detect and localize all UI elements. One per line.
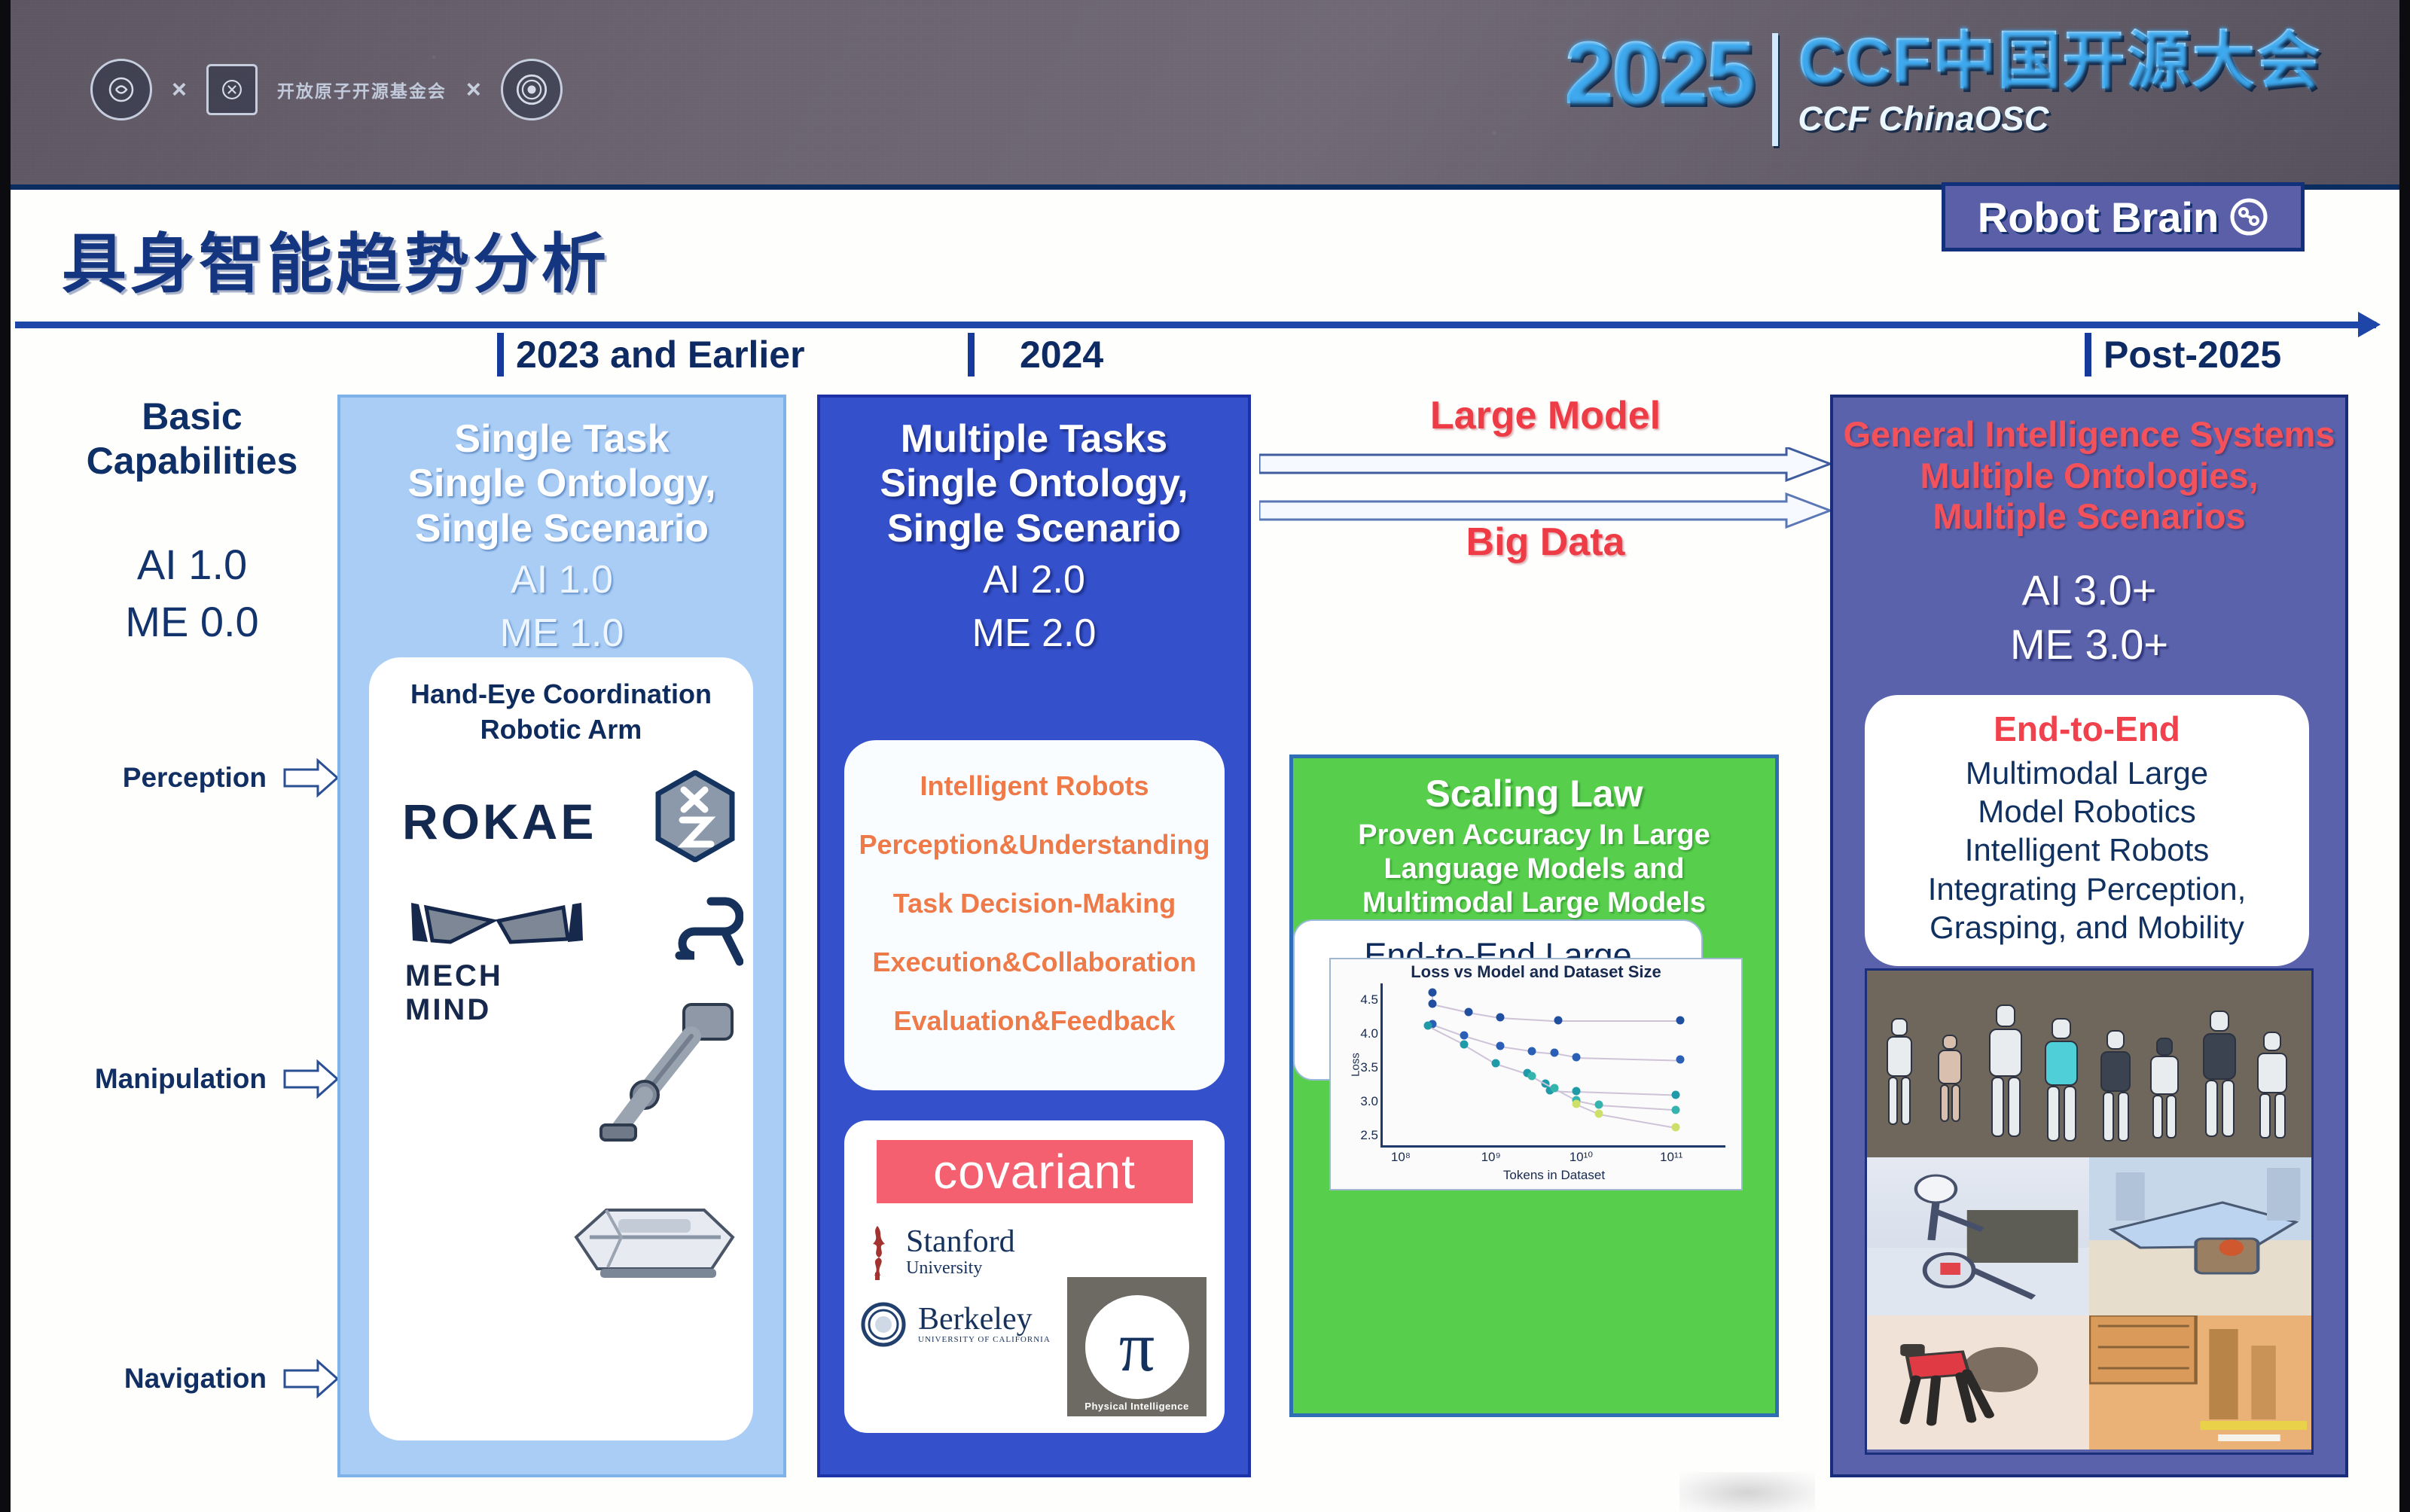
- chart-data-point: [1460, 1040, 1468, 1048]
- chart-data-point: [1496, 1042, 1504, 1050]
- berkeley-primary: Berkeley: [918, 1303, 1051, 1335]
- title-divider: [1772, 33, 1778, 146]
- capability-label-manipulation: Manipulation: [95, 1063, 267, 1095]
- right-edge-shadow: [2399, 0, 2410, 1512]
- transition-arrows: Large Model Big Data: [1259, 393, 1832, 566]
- panel3-me-version: ME 3.0+: [1833, 617, 2345, 672]
- left-edge-shadow: [0, 0, 11, 1512]
- brain-gear-icon: [2229, 197, 2268, 236]
- r-curve-logo-icon: [664, 897, 743, 980]
- scaling-law-subtitle: Proven Accuracy In Large Language Models…: [1293, 818, 1775, 919]
- conference-title-block: 2025 CCF中国开源大会 CCF ChinaOSC: [1564, 29, 2321, 146]
- stage-panel-post2025: General Intelligence Systems Multiple On…: [1830, 395, 2348, 1477]
- chart-data-point: [1595, 1101, 1603, 1109]
- rokae-logo: ROKAE: [402, 793, 596, 850]
- arrow-label-large-model: Large Model: [1259, 393, 1832, 438]
- panel1-head-line3: Single Scenario: [340, 507, 783, 551]
- partner-logo-row: × 开放原子开源基金会 ×: [90, 59, 563, 120]
- stanford-name: Stanford University: [906, 1226, 1015, 1279]
- scaling-law-sub-line3: Multimodal Large Models: [1293, 886, 1775, 920]
- capability-row-perception: Perception: [45, 758, 339, 798]
- physical-intelligence-caption: Physical Intelligence: [1084, 1401, 1188, 1412]
- chart-trend-line: [1599, 1105, 1676, 1111]
- chart-data-point: [1460, 1031, 1468, 1039]
- panel3-card-line3: Intelligent Robots: [1865, 831, 2309, 869]
- panel2-ai-version: AI 2.0: [820, 556, 1248, 605]
- chart-y-tick: 2.5: [1360, 1128, 1378, 1143]
- panel3-versions: AI 3.0+ ME 3.0+: [1833, 563, 2345, 673]
- chart-x-tick: 10¹¹: [1660, 1150, 1682, 1165]
- chart-trend-line: [1576, 1091, 1676, 1096]
- warehouse-robot-photo: [2089, 1157, 2311, 1315]
- panel3-content-card: End-to-End Multimodal Large Model Roboti…: [1865, 695, 2309, 966]
- chart-data-point: [1573, 1053, 1581, 1061]
- capabilities-ai-version: AI 1.0: [45, 536, 339, 593]
- berkeley-name: Berkeley UNIVERSITY OF CALIFORNIA: [918, 1303, 1051, 1345]
- chart-x-tick: 10¹⁰: [1570, 1150, 1593, 1165]
- panel3-ai-version: AI 3.0+: [1833, 563, 2345, 618]
- panel3-card-title: End-to-End: [1865, 695, 2309, 749]
- basic-capabilities-column: Basic Capabilities AI 1.0 ME 0.0 Percept…: [45, 395, 339, 1464]
- hexagon-robot-logo-icon: [654, 770, 737, 862]
- stanford-logo-row: Stanford University: [861, 1223, 1225, 1282]
- feature-item: Perception&Understanding: [844, 829, 1225, 861]
- conference-banner: × 开放原子开源基金会 × 2025 CCF中国开源大会 CCF ChinaOS…: [0, 0, 2410, 190]
- era-text-2: 2024: [1020, 333, 1103, 376]
- arrow-label-big-data: Big Data: [1259, 520, 1832, 565]
- conference-year: 2025: [1564, 29, 1753, 117]
- partner-logo-2-icon: [206, 64, 258, 115]
- era-tick-2: [968, 333, 975, 376]
- mech-mind-wordmark: MECH MIND: [405, 959, 593, 1027]
- chart-data-point: [1496, 1013, 1504, 1021]
- panel3-card-line2: Model Robotics: [1865, 792, 2309, 831]
- chart-data-point: [1573, 1087, 1581, 1096]
- chart-y-tick: 4.0: [1360, 1026, 1378, 1041]
- panel1-header: Single Task Single Ontology, Single Scen…: [340, 398, 783, 659]
- chart-trend-line: [1463, 1035, 1499, 1047]
- stanford-secondary: University: [906, 1257, 1015, 1279]
- panel2-me-version: ME 2.0: [820, 609, 1248, 659]
- panel2-feature-card: Intelligent Robots Perception&Understand…: [844, 740, 1225, 1090]
- stage-panel-2023: Single Task Single Ontology, Single Scen…: [337, 395, 786, 1477]
- panel2-head-line2: Single Ontology,: [820, 462, 1248, 506]
- chart-data-point: [1672, 1123, 1680, 1131]
- feature-item: Execution&Collaboration: [844, 947, 1225, 978]
- panel2-header: Multiple Tasks Single Ontology, Single S…: [820, 398, 1248, 659]
- panel1-ai-version: AI 1.0: [340, 556, 783, 605]
- feature-item: Task Decision-Making: [844, 888, 1225, 919]
- stanford-primary: Stanford: [906, 1226, 1015, 1257]
- robot-application-photos-row2: [1867, 1315, 2311, 1450]
- chart-trend-line: [1432, 1004, 1469, 1014]
- panel3-card-line4: Integrating Perception,: [1865, 870, 2309, 908]
- panel2-head-line3: Single Scenario: [820, 507, 1248, 551]
- conference-title-english: CCF ChinaOSC: [1798, 99, 2321, 139]
- era-label-2024: 2024: [968, 333, 1103, 376]
- feature-item: Intelligent Robots: [844, 770, 1225, 802]
- scaling-law-sub-line2: Language Models and: [1293, 852, 1775, 886]
- capability-label-navigation: Navigation: [124, 1363, 267, 1395]
- chart-x-label: Tokens in Dataset: [1503, 1168, 1605, 1183]
- panel1-content-card: Hand-Eye Coordination Robotic Arm ROKAE: [369, 657, 753, 1440]
- partner-logo-3-icon: [501, 59, 563, 120]
- page-title: 具身智能趋势分析: [62, 211, 610, 305]
- capabilities-heading-line2: Capabilities: [45, 439, 339, 483]
- panel3-card-body: Multimodal Large Model Robotics Intellig…: [1865, 754, 2309, 947]
- loss-scaling-chart: Loss vs Model and Dataset Size Loss Toke…: [1329, 958, 1743, 1190]
- chart-data-point: [1464, 1007, 1472, 1016]
- robotic-arm-photo: [595, 1000, 746, 1143]
- chart-data-point: [1554, 1017, 1563, 1025]
- chart-data-point: [1428, 988, 1436, 996]
- panel1-head-line2: Single Ontology,: [340, 462, 783, 506]
- berkeley-secondary: UNIVERSITY OF CALIFORNIA: [918, 1335, 1051, 1345]
- panel2-logo-card: covariant Stanford University: [844, 1120, 1225, 1433]
- humanoid-robots-icon: [1878, 989, 2300, 1147]
- robot-brain-label: Robot Brain: [1978, 193, 2219, 242]
- scaling-law-sub-line1: Proven Accuracy In Large: [1293, 818, 1775, 852]
- arrow-right-icon: [283, 1358, 339, 1399]
- scaling-law-title: Scaling Law: [1293, 758, 1775, 815]
- panel3-header: General Intelligence Systems Multiple On…: [1833, 398, 2345, 538]
- covariant-logo: covariant: [877, 1140, 1193, 1203]
- capability-label-perception: Perception: [123, 762, 267, 794]
- panel1-card-title-line2: Robotic Arm: [369, 712, 753, 748]
- stanford-tree-icon: [861, 1223, 894, 1282]
- arrow-right-icon: [283, 1059, 339, 1099]
- feature-item: Evaluation&Feedback: [844, 1005, 1225, 1037]
- chart-data-point: [1550, 1049, 1558, 1057]
- chart-data-point: [1423, 1022, 1432, 1030]
- era-tick-3: [2085, 333, 2091, 376]
- capabilities-versions: AI 1.0 ME 0.0: [45, 536, 339, 650]
- chart-data-point: [1676, 1017, 1685, 1025]
- chart-y-tick: 4.5: [1360, 992, 1378, 1007]
- quadruped-robot-photo: [1867, 1315, 2089, 1450]
- chart-data-point: [1527, 1047, 1536, 1055]
- robot-gallery: [1865, 968, 2314, 1455]
- chart-trend-line: [1500, 1017, 1559, 1022]
- stage-panel-2024: Multiple Tasks Single Ontology, Single S…: [817, 395, 1251, 1477]
- era-text-3: Post-2025: [2103, 333, 2281, 376]
- chart-trend-line: [1558, 1020, 1680, 1022]
- era-tick-1: [497, 333, 504, 376]
- robot-application-photos-row1: [1867, 1157, 2311, 1315]
- era-label-post2025: Post-2025: [2085, 333, 2281, 376]
- capabilities-me-version: ME 0.0: [45, 593, 339, 651]
- chart-trend-line: [1599, 1114, 1676, 1129]
- arrow-right-icon: [283, 758, 339, 798]
- capability-row-navigation: Navigation: [45, 1358, 339, 1399]
- chart-data-point: [1676, 1056, 1685, 1064]
- era-text-1: 2023 and Earlier: [516, 333, 805, 376]
- berkeley-seal-icon: [861, 1301, 906, 1348]
- chart-data-point: [1550, 1084, 1558, 1092]
- mobile-robot-photo: [554, 1184, 746, 1282]
- robot-brain-badge: Robot Brain: [1942, 182, 2305, 251]
- mech-mind-mark-icon: [405, 898, 593, 951]
- partner-logo-1-icon: [90, 59, 152, 120]
- times-separator-2: ×: [466, 75, 481, 105]
- partner-name-text: 开放原子开源基金会: [277, 77, 447, 102]
- panel2-head-line1: Multiple Tasks: [820, 417, 1248, 462]
- slide-content: 具身智能趋势分析 Robot Brain 2023 and Earlier 20…: [0, 190, 2410, 1512]
- chart-data-point: [1428, 999, 1436, 1007]
- physical-intelligence-logo: π Physical Intelligence: [1067, 1277, 1207, 1416]
- bottom-glare: [1679, 1472, 1815, 1512]
- mech-mind-logo: MECH MIND: [405, 898, 593, 1027]
- chart-y-tick: 3.5: [1360, 1060, 1378, 1075]
- chart-data-point: [1672, 1090, 1680, 1099]
- household-robot-photo: [1867, 1157, 2089, 1315]
- chart-title: Loss vs Model and Dataset Size: [1331, 959, 1741, 982]
- chart-data-point: [1527, 1072, 1536, 1080]
- capabilities-heading-line1: Basic: [45, 395, 339, 439]
- era-label-2023: 2023 and Earlier: [497, 333, 805, 376]
- chart-data-point: [1491, 1059, 1499, 1067]
- chart-trend-line: [1576, 1057, 1680, 1062]
- chart-x-tick: 10⁹: [1481, 1150, 1501, 1165]
- construction-robot-photo: [2089, 1315, 2311, 1450]
- presentation-slide: × 开放原子开源基金会 × 2025 CCF中国开源大会 CCF ChinaOS…: [0, 0, 2410, 1512]
- covariant-wordmark: covariant: [933, 1144, 1136, 1200]
- chart-plot-area: Loss Tokens in Dataset 2.53.03.54.04.510…: [1380, 983, 1725, 1148]
- timeline-axis: [15, 322, 2376, 328]
- scaling-law-panel: Scaling Law Proven Accuracy In Large Lan…: [1289, 754, 1779, 1417]
- capability-row-manipulation: Manipulation: [45, 1059, 339, 1099]
- chart-x-tick: 10⁸: [1391, 1150, 1411, 1165]
- pi-glyph-icon: π: [1119, 1312, 1155, 1382]
- times-separator-1: ×: [172, 75, 187, 105]
- panel1-card-title: Hand-Eye Coordination Robotic Arm: [369, 657, 753, 748]
- chart-data-point: [1573, 1100, 1581, 1108]
- chart-data-point: [1672, 1105, 1680, 1114]
- humanoid-lineup-photo: [1867, 971, 2311, 1157]
- panel3-card-line5: Grasping, and Mobility: [1865, 908, 2309, 947]
- panel3-card-line1: Multimodal Large: [1865, 754, 2309, 792]
- panel1-card-title-line1: Hand-Eye Coordination: [369, 677, 753, 712]
- panel1-me-version: ME 1.0: [340, 609, 783, 659]
- panel3-head-line2: Multiple Ontologies,: [1833, 456, 2345, 497]
- chart-y-tick: 3.0: [1360, 1094, 1378, 1109]
- panel3-head-line3: Multiple Scenarios: [1833, 496, 2345, 538]
- pi-circle: π: [1085, 1295, 1189, 1399]
- conference-title-chinese: CCF中国开源大会: [1798, 29, 2321, 92]
- r-curve-sublabel: [664, 971, 743, 982]
- capabilities-heading: Basic Capabilities: [45, 395, 339, 483]
- panel1-head-line1: Single Task: [340, 417, 783, 462]
- panel3-head-line1: General Intelligence Systems: [1833, 414, 2345, 456]
- chart-data-point: [1595, 1109, 1603, 1117]
